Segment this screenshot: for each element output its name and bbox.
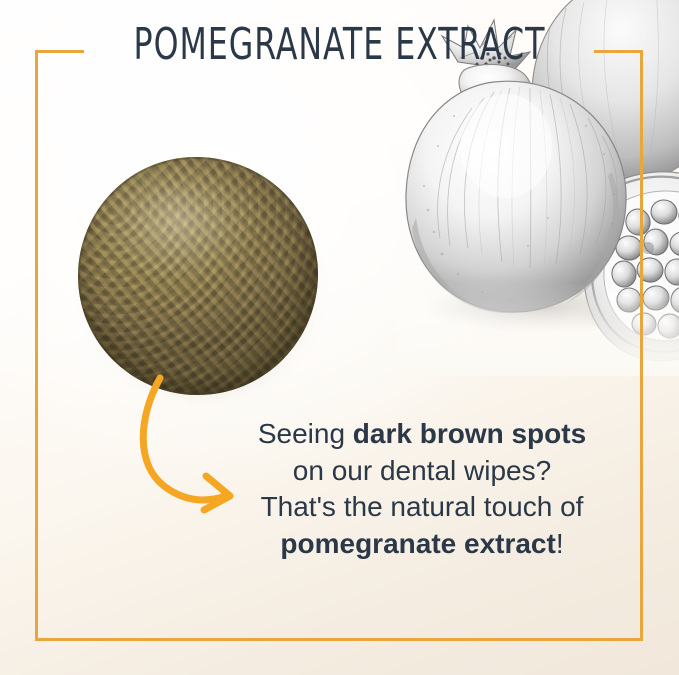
caption-line-1-bold: dark brown spots [353,418,586,449]
caption-line-3: That's the natural touch of [212,489,632,526]
dental-wipe-disc [78,157,318,395]
frame-left-line [35,50,38,641]
caption-line-4-plain: ! [556,528,564,559]
page-title: POMEGRANATE EXTRACT [68,22,611,68]
caption-line-4-bold: pomegranate extract [280,528,555,559]
caption-line-4: pomegranate extract! [212,526,632,563]
wipe-edge [78,157,318,395]
frame-bottom-line [35,638,643,641]
caption-line-1: Seeing dark brown spots [212,416,632,453]
frame-right-line [640,50,643,641]
promo-graphic: POMEGRANATE EXTRACT Seeing dark brown sp… [0,0,679,675]
caption-line-1-plain: Seeing [258,418,353,449]
caption-line-2: on our dental wipes? [212,453,632,490]
caption-text: Seeing dark brown spots on our dental wi… [212,416,632,562]
